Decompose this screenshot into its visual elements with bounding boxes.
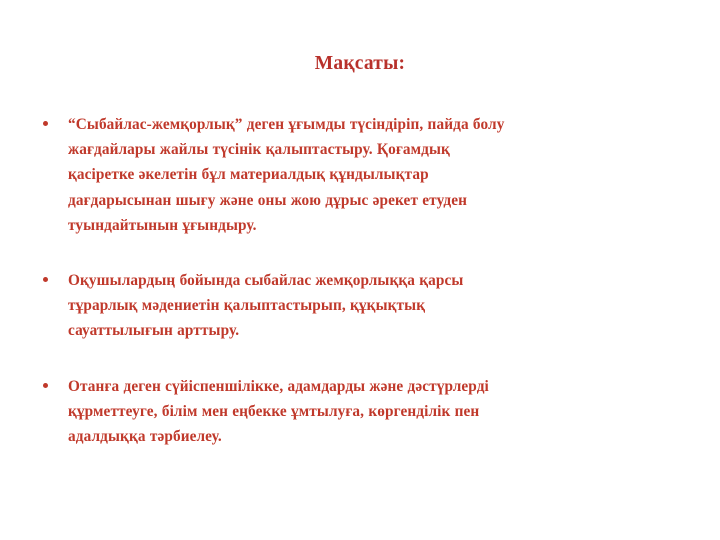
slide-canvas: Мақсаты: “Сыбайлас-жемқорлық” деген ұғым… [0,0,720,540]
bullet-text: Оқушылардың бойында сыбайлас жемқорлыққа… [68,268,672,344]
page-title: Мақсаты: [0,52,720,76]
list-item: “Сыбайлас-жемқорлық” деген ұғымды түсінд… [36,112,672,238]
bullet-text: “Сыбайлас-жемқорлық” деген ұғымды түсінд… [68,112,672,238]
bullet-list: “Сыбайлас-жемқорлық” деген ұғымды түсінд… [36,112,672,449]
list-item: Оқушылардың бойында сыбайлас жемқорлыққа… [36,268,672,344]
bullet-dot-icon [43,277,48,282]
bullet-text: Отанға деген сүйіспеншілікке, адамдарды … [68,374,672,450]
bullet-dot-icon [43,121,48,126]
list-item: Отанға деген сүйіспеншілікке, адамдарды … [36,374,672,450]
bullet-dot-icon [43,383,48,388]
